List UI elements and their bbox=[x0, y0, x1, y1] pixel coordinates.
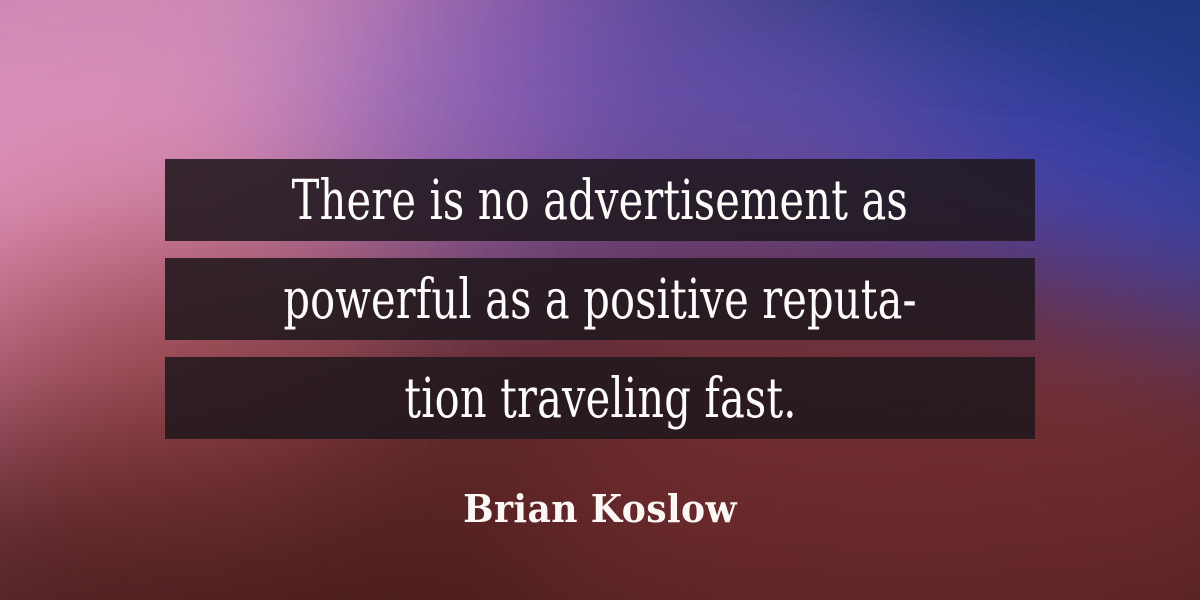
quote-line-3: tion traveling fast. bbox=[165, 357, 1035, 439]
quote-line-2: powerful as a positive reputa- bbox=[165, 258, 1035, 340]
quote-line-1: There is no advertisement as bbox=[165, 159, 1035, 241]
quote-line-2-text: powerful as a positive reputa- bbox=[283, 272, 916, 327]
quote-card: There is no advertisement as powerful as… bbox=[0, 0, 1200, 600]
quote-line-1-text: There is no advertisement as bbox=[292, 173, 908, 228]
author-name: Brian Koslow bbox=[30, 487, 1170, 531]
quote-text-block: There is no advertisement as powerful as… bbox=[165, 159, 1035, 439]
quote-line-3-text: tion traveling fast. bbox=[404, 371, 796, 426]
